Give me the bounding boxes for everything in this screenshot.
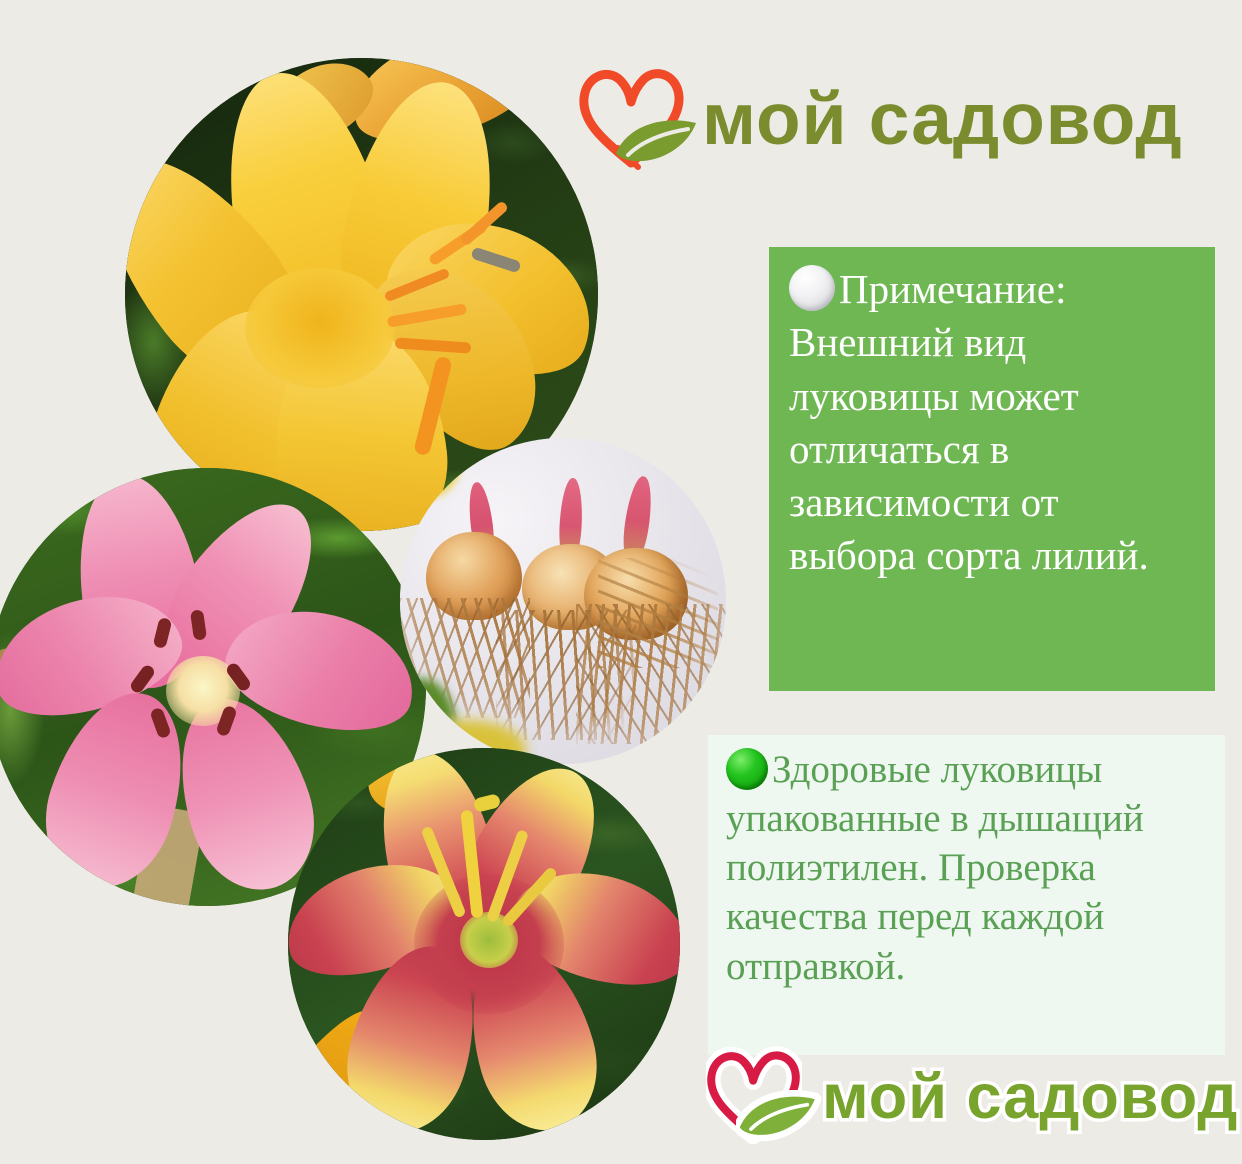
root-cluster xyxy=(598,558,718,668)
brand-logo-top: мой садовод xyxy=(578,62,1183,177)
promo-canvas: мой садовод Примечание: Внешний вид луко… xyxy=(0,0,1242,1164)
brand-wordmark-top: мой садовод xyxy=(702,78,1183,161)
leaf-icon xyxy=(612,113,708,172)
lily-bulbs-photo xyxy=(400,438,726,764)
note-heading: Примечание: xyxy=(839,266,1066,312)
quality-body: Здоровые луковицы упакованные в дышащий … xyxy=(726,748,1144,988)
quality-panel: Здоровые луковицы упакованные в дышащий … xyxy=(708,735,1225,1055)
note-body: Внешний вид луковицы может отличаться в … xyxy=(789,319,1149,578)
flower-throat xyxy=(245,268,395,388)
note-panel-text: Примечание: Внешний вид луковицы может о… xyxy=(789,263,1193,583)
leaf-icon xyxy=(736,1089,826,1146)
white-circle-bullet xyxy=(789,265,835,311)
brand-logo-bottom: мой садовод xyxy=(706,1044,1238,1149)
green-circle-bullet xyxy=(726,748,768,790)
quality-panel-text: Здоровые луковицы упакованные в дышащий … xyxy=(726,745,1211,991)
brand-wordmark-bottom: мой садовод xyxy=(822,1061,1238,1133)
red-yellow-lily-photo xyxy=(288,748,680,1140)
note-panel: Примечание: Внешний вид луковицы может о… xyxy=(769,247,1215,691)
